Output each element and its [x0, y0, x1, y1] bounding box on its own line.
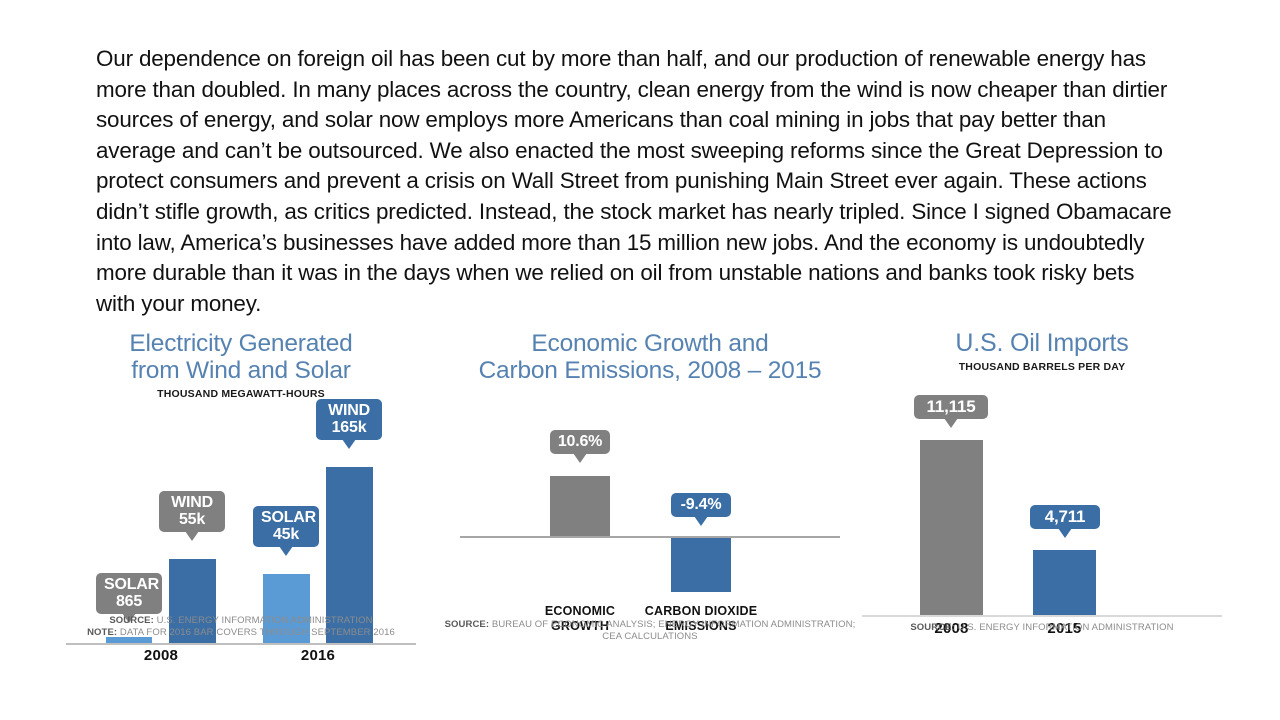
plot-area: SOLAR 865 WIND 55k SOLAR 45k WIND 165k 2… [58, 413, 424, 646]
source-text: BUREAU OF ECONOMIC ANALYSIS; ENERGY INFO… [489, 619, 855, 630]
axis-zero-line [460, 536, 840, 538]
bar-economic-growth [550, 476, 610, 536]
callout-value: 45k [261, 526, 311, 543]
callout-label: WIND [324, 402, 374, 419]
callout-2016-wind: WIND 165k [316, 399, 382, 440]
chart-title: Electricity Generated from Wind and Sola… [58, 330, 424, 384]
chart-title: U.S. Oil Imports [862, 330, 1222, 357]
source-line: SOURCE: BUREAU OF ECONOMIC ANALYSIS; ENE… [440, 619, 860, 631]
callout-2008-wind: WIND 55k [159, 491, 225, 532]
x-label-2016: 2016 [271, 647, 365, 664]
chart-oil-imports: U.S. Oil Imports THOUSAND BARRELS PER DA… [862, 330, 1222, 660]
chart-title-line1: Electricity Generated [129, 330, 352, 357]
callout-value: 55k [167, 511, 217, 528]
callout-label: SOLAR [261, 509, 311, 526]
callout-value: -9.4% [671, 496, 731, 513]
callout-2008-solar: SOLAR 865 [96, 573, 162, 614]
callout-label: SOLAR [104, 576, 154, 593]
callout-value: 10.6% [550, 433, 610, 450]
charts-row: Electricity Generated from Wind and Sola… [0, 330, 1280, 660]
callout-value: 4,711 [1030, 508, 1100, 525]
x-label-line1: CARBON DIOXIDE [636, 604, 766, 619]
slide-canvas: Our dependence on foreign oil has been c… [0, 0, 1280, 720]
source-line-2: CEA CALCULATIONS [440, 631, 860, 643]
chart-source: SOURCE: U.S. ENERGY INFORMATION ADMINIST… [58, 615, 424, 639]
callout-value: 165k [324, 419, 374, 436]
chart-subtitle: THOUSAND BARRELS PER DAY [862, 361, 1222, 373]
chart-title-line2: Carbon Emissions, 2008 – 2015 [479, 357, 822, 384]
axis-baseline [862, 615, 1222, 617]
callout-value: 11,115 [914, 398, 988, 415]
plot-area: 11,115 4,711 2008 2015 [862, 383, 1222, 621]
source-prefix: SOURCE: [910, 622, 955, 633]
chart-title-line1: U.S. Oil Imports [955, 329, 1128, 357]
callout-economic-growth: 10.6% [550, 430, 610, 454]
chart-source: SOURCE: BUREAU OF ECONOMIC ANALYSIS; ENE… [440, 619, 860, 643]
callout-carbon-emissions: -9.4% [671, 493, 731, 517]
chart-title: Economic Growth and Carbon Emissions, 20… [440, 330, 860, 384]
callout-label: WIND [167, 494, 217, 511]
note-line: NOTE: DATA FOR 2016 BAR COVERS THROUGH S… [58, 627, 424, 639]
source-text: U.S. ENERGY INFORMATION ADMINISTRATION [955, 622, 1174, 633]
source-line: SOURCE: U.S. ENERGY INFORMATION ADMINIST… [58, 615, 424, 627]
bar-2015-oil-imports [1033, 550, 1096, 615]
chart-growth-emissions: Economic Growth and Carbon Emissions, 20… [440, 330, 860, 660]
x-label-line1: ECONOMIC [528, 604, 632, 619]
bar-carbon-emissions [671, 538, 731, 592]
plot-area: 10.6% -9.4% ECONOMIC GROWTH CARBON DIOXI… [440, 408, 860, 653]
body-paragraph: Our dependence on foreign oil has been c… [96, 44, 1174, 319]
callout-2015-oil: 4,711 [1030, 505, 1100, 529]
note-prefix: NOTE: [87, 627, 117, 638]
chart-electricity-wind-solar: Electricity Generated from Wind and Sola… [58, 330, 424, 660]
source-prefix: SOURCE: [445, 619, 490, 630]
source-prefix: SOURCE: [109, 615, 154, 626]
callout-2016-solar: SOLAR 45k [253, 506, 319, 547]
source-line: SOURCE: U.S. ENERGY INFORMATION ADMINIST… [862, 622, 1222, 634]
source-text: U.S. ENERGY INFORMATION ADMINISTRATION [154, 615, 373, 626]
chart-title-line1: Economic Growth and [531, 330, 768, 357]
note-text: DATA FOR 2016 BAR COVERS THROUGH SEPTEMB… [117, 627, 395, 638]
chart-source: SOURCE: U.S. ENERGY INFORMATION ADMINIST… [862, 622, 1222, 634]
bar-2008-oil-imports [920, 440, 983, 615]
axis-baseline [66, 643, 416, 645]
x-label-2008: 2008 [114, 647, 208, 664]
callout-2008-oil: 11,115 [914, 395, 988, 419]
callout-value: 865 [104, 593, 154, 610]
chart-title-line2: from Wind and Solar [131, 357, 351, 384]
